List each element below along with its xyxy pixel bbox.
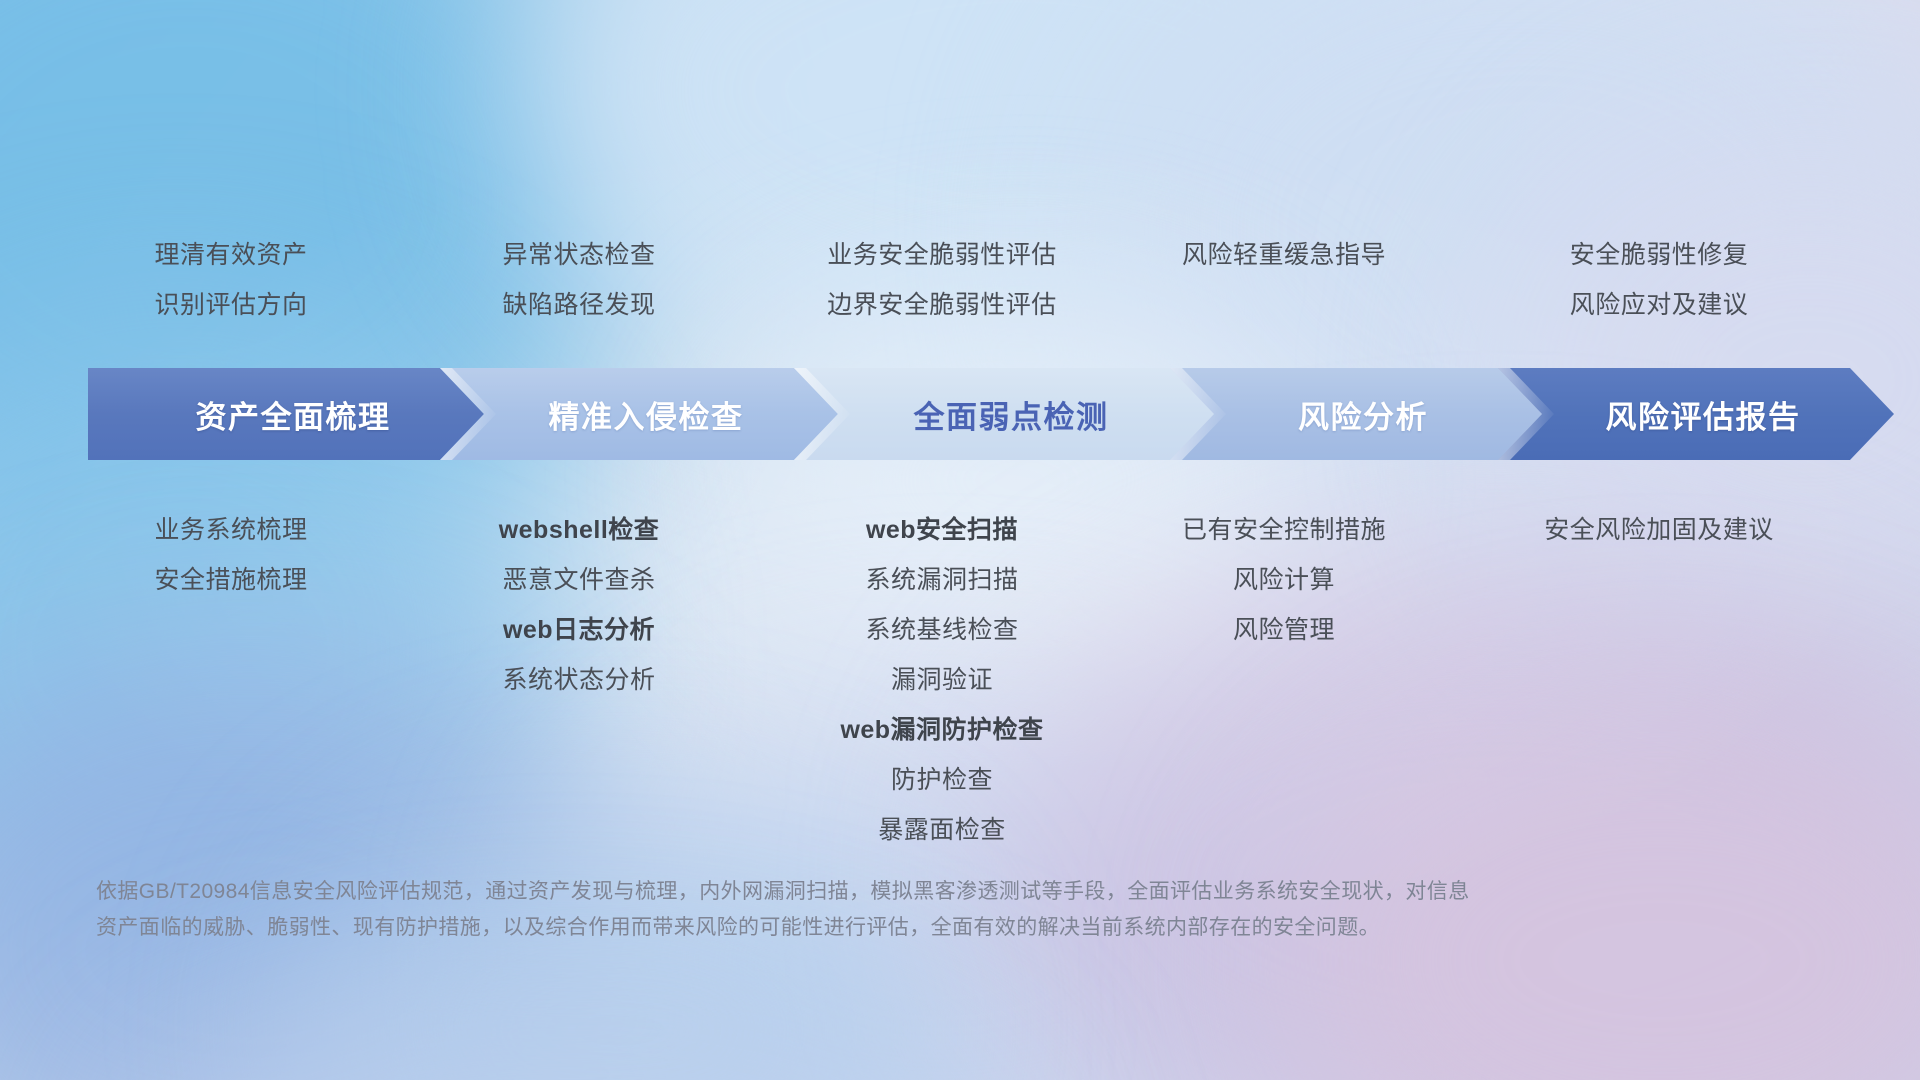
list-item: 漏洞验证 [744,655,1140,705]
stage-top-items-3: 业务安全脆弱性评估 边界安全脆弱性评估 [744,230,1140,330]
list-item: 系统漏洞扫描 [744,555,1140,605]
list-item: 业务安全脆弱性评估 [744,230,1140,280]
list-item: 系统基线检查 [744,605,1140,655]
list-item: 风险管理 [1116,605,1452,655]
slide-canvas: 理清有效资产 识别评估方向 异常状态检查 缺陷路径发现 业务安全脆弱性评估 边界… [0,0,1920,1080]
list-item: 缺陷路径发现 [410,280,748,330]
background-blob [120,980,1020,1080]
stage-bottom-items-2: webshell检查 恶意文件查杀 web日志分析 系统状态分析 [410,505,748,705]
stage-bottom-items-5: 安全风险加固及建议 [1460,505,1858,555]
list-item: 理清有效资产 [62,230,400,280]
process-stage-2[interactable]: 精准入侵检查 [440,368,838,460]
list-item: 风险轻重缓急指导 [1116,230,1452,280]
stage-top-items-5: 安全脆弱性修复 风险应对及建议 [1460,230,1858,330]
stage-bottom-items-3: web安全扫描 系统漏洞扫描 系统基线检查 漏洞验证 web漏洞防护检查 防护检… [744,505,1140,855]
list-item: 安全脆弱性修复 [1460,230,1858,280]
list-item: 已有安全控制措施 [1116,505,1452,555]
stage-top-items-4: 风险轻重缓急指导 [1116,230,1452,280]
process-stage-4[interactable]: 风险分析 [1170,368,1542,460]
background-blob [520,0,1520,400]
list-item: 系统状态分析 [410,655,748,705]
footer-line-1: 依据GB/T20984信息安全风险评估规范，通过资产发现与梳理，内外网漏洞扫描，… [96,874,1696,910]
list-item: web漏洞防护检查 [744,705,1140,755]
list-item: 风险计算 [1116,555,1452,605]
process-stage-title: 全面弱点检测 [900,392,1109,437]
list-item: 防护检查 [744,755,1140,805]
list-item: 安全风险加固及建议 [1460,505,1858,555]
stage-top-items-2: 异常状态检查 缺陷路径发现 [410,230,748,330]
list-item: 暴露面检查 [744,805,1140,855]
process-stage-title: 风险分析 [1284,392,1428,437]
list-item: 安全措施梳理 [62,555,400,605]
list-item: 恶意文件查杀 [410,555,748,605]
process-flow-band: 资产全面梳理 精准入侵检查 全面弱点检测 风险分析 风险评估报告 [88,368,1850,460]
list-item: 边界安全脆弱性评估 [744,280,1140,330]
list-item: web日志分析 [410,605,748,655]
process-stage-title: 精准入侵检查 [535,392,744,437]
process-stage-5[interactable]: 风险评估报告 [1498,368,1894,460]
process-stage-title: 风险评估报告 [1592,392,1801,437]
list-item: 风险应对及建议 [1460,280,1858,330]
list-item: 异常状态检查 [410,230,748,280]
footer-description: 依据GB/T20984信息安全风险评估规范，通过资产发现与梳理，内外网漏洞扫描，… [96,874,1696,946]
stage-top-items-1: 理清有效资产 识别评估方向 [62,230,400,330]
list-item: 识别评估方向 [62,280,400,330]
process-stage-1[interactable]: 资产全面梳理 [88,368,484,460]
list-item: web安全扫描 [744,505,1140,555]
list-item: webshell检查 [410,505,748,555]
background-blob [300,820,940,1080]
stage-bottom-items-4: 已有安全控制措施 风险计算 风险管理 [1116,505,1452,655]
list-item: 业务系统梳理 [62,505,400,555]
stage-bottom-items-1: 业务系统梳理 安全措施梳理 [62,505,400,605]
background-blob [0,640,660,1080]
process-stage-title: 资产全面梳理 [182,392,391,437]
process-stage-3[interactable]: 全面弱点检测 [794,368,1214,460]
footer-line-2: 资产面临的威胁、脆弱性、现有防护措施，以及综合作用而带来风险的可能性进行评估，全… [96,910,1696,946]
